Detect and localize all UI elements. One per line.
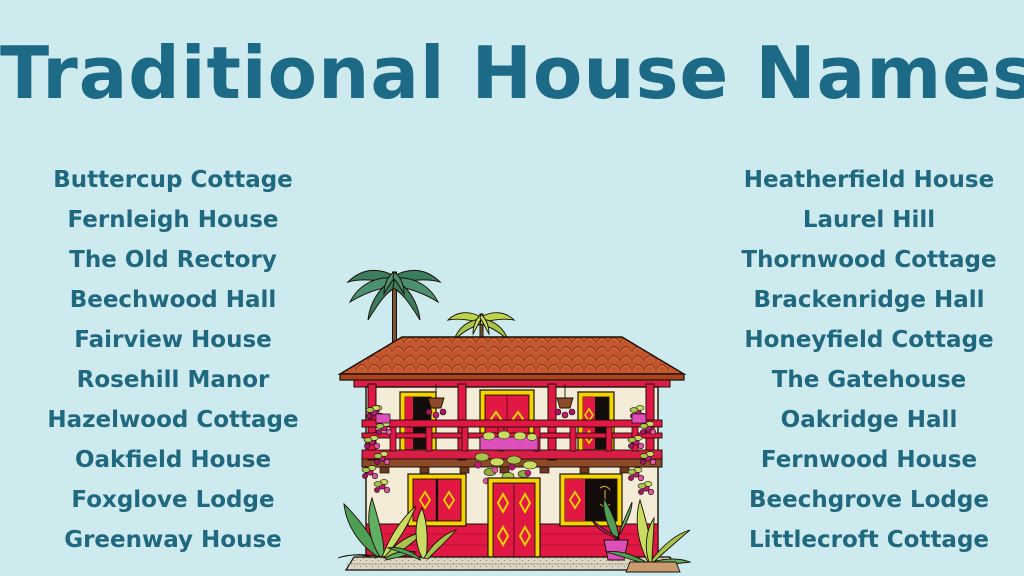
list-item: Littlecroft Cottage [704, 520, 1024, 560]
colonial-house-illustration [332, 262, 692, 576]
list-item: Brackenridge Hall [704, 280, 1024, 320]
house-names-right-column: Heatherfield House Laurel Hill Thornwood… [704, 160, 1024, 560]
list-item: Beechwood Hall [8, 280, 338, 320]
list-item: The Old Rectory [8, 240, 338, 280]
main-entrance-door [488, 478, 540, 557]
list-item: Fernleigh House [8, 200, 338, 240]
house-names-left-column: Buttercup Cottage Fernleigh House The Ol… [8, 160, 338, 560]
list-item: Thornwood Cottage [704, 240, 1024, 280]
list-item: Laurel Hill [704, 200, 1024, 240]
poster-canvas: Traditional House Names Buttercup Cottag… [0, 0, 1024, 576]
list-item: Oakfield House [8, 440, 338, 480]
list-item: Rosehill Manor [8, 360, 338, 400]
list-item: Heatherfield House [704, 160, 1024, 200]
list-item: Hazelwood Cottage [8, 400, 338, 440]
roof-fascia [354, 380, 670, 387]
list-item: Beechgrove Lodge [704, 480, 1024, 520]
page-title: Traditional House Names [0, 34, 1024, 112]
list-item: The Gatehouse [704, 360, 1024, 400]
list-item: Fernwood House [704, 440, 1024, 480]
tile-roof [340, 337, 684, 380]
list-item: Fairview House [8, 320, 338, 360]
list-item: Greenway House [8, 520, 338, 560]
list-item: Buttercup Cottage [8, 160, 338, 200]
ground-left-window [408, 474, 466, 526]
list-item: Oakridge Hall [704, 400, 1024, 440]
list-item: Foxglove Lodge [8, 480, 338, 520]
list-item: Honeyfield Cottage [704, 320, 1024, 360]
